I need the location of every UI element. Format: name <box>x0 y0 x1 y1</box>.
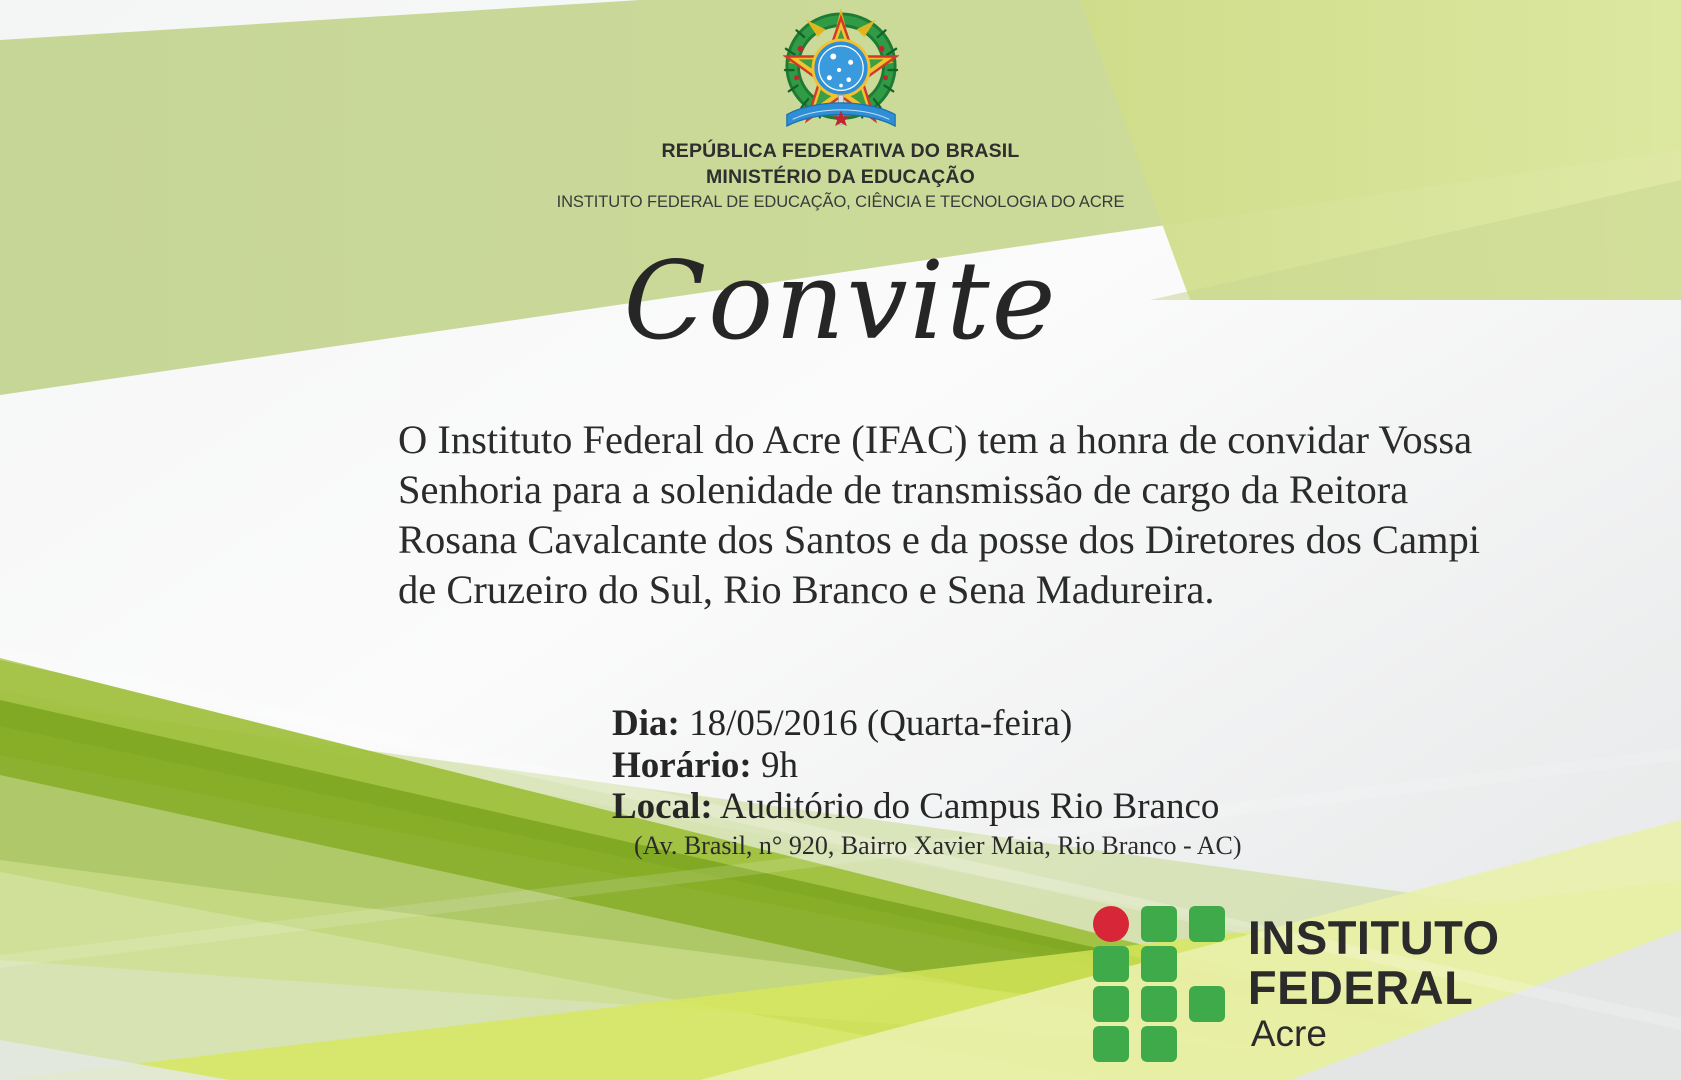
logo-cell <box>1093 986 1129 1022</box>
detail-address: (Av. Brasil, n° 920, Bairro Xavier Maia,… <box>612 830 1242 861</box>
detail-place-value: Auditório do Campus Rio Branco <box>720 786 1219 827</box>
ifac-logo-grid-icon <box>1093 906 1222 1062</box>
detail-day-value: 18/05/2016 (Quarta-feira) <box>689 703 1072 744</box>
logo-cell <box>1141 1026 1177 1062</box>
logo-cell <box>1093 1026 1129 1062</box>
logo-cell <box>1141 906 1177 942</box>
event-details: Dia: 18/05/2016 (Quarta-feira) Horário: … <box>612 703 1242 861</box>
body-line-1: O Instituto Federal do Acre (IFAC) tem a… <box>398 415 1541 465</box>
logo-cell <box>1141 946 1177 982</box>
logo-wordmark: INSTITUTO FEDERAL Acre <box>1248 913 1681 1054</box>
logo-cell <box>1093 946 1129 982</box>
invitation-card: REPÚBLICA FEDERATIVA DO BRASIL MINISTÉRI… <box>0 0 1681 1080</box>
body-line-4: de Cruzeiro do Sul, Rio Branco e Sena Ma… <box>398 565 1541 615</box>
logo-line-sub: Acre <box>1248 1013 1681 1054</box>
logo-cell <box>1189 986 1225 1022</box>
detail-time-value: 9h <box>761 745 798 786</box>
body-line-2: Senhoria para a solenidade de transmissã… <box>398 465 1541 515</box>
detail-place: Local: Auditório do Campus Rio Branco <box>612 786 1242 828</box>
logo-red-dot-icon <box>1093 906 1129 942</box>
logo-cell <box>1141 986 1177 1022</box>
detail-day-label: Dia: <box>612 703 680 744</box>
detail-time: Horário: 9h <box>612 745 1242 787</box>
invitation-body: O Instituto Federal do Acre (IFAC) tem a… <box>398 415 1541 615</box>
body-line-3: Rosana Cavalcante dos Santos e da posse … <box>398 515 1541 565</box>
logo-cell <box>1189 906 1225 942</box>
content-area: Convite O Instituto Federal do Acre (IFA… <box>0 0 1681 1080</box>
instituto-federal-acre-logo: INSTITUTO FEDERAL Acre <box>1093 906 1681 1062</box>
detail-time-label: Horário: <box>612 745 752 786</box>
logo-line-main: INSTITUTO FEDERAL <box>1248 913 1681 1013</box>
page-title: Convite <box>0 248 1681 356</box>
detail-place-label: Local: <box>612 786 713 827</box>
detail-day: Dia: 18/05/2016 (Quarta-feira) <box>612 703 1242 745</box>
